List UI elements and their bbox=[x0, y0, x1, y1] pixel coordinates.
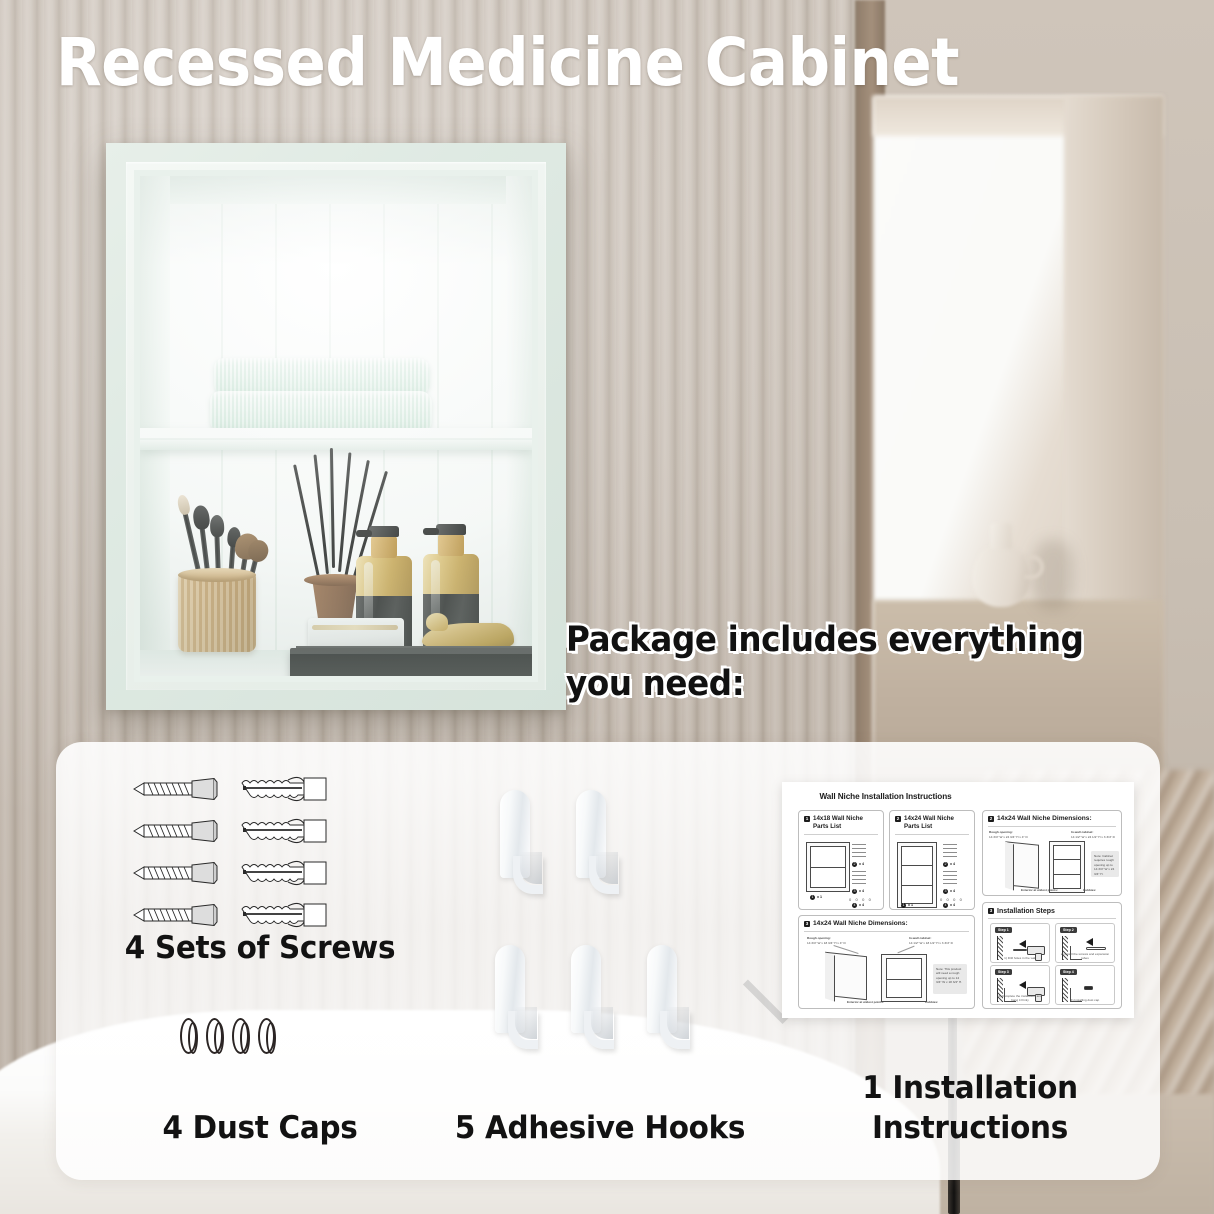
qty-label: x 4 bbox=[859, 889, 864, 893]
ceramic-vase bbox=[972, 545, 1030, 607]
package-subheading-line1: Package includes everything bbox=[566, 618, 1124, 662]
qty-label: x 4 bbox=[859, 903, 864, 907]
niche-shelf-line bbox=[810, 867, 846, 868]
wall-anchor-icon bbox=[238, 776, 330, 802]
step-tag: Step 1 bbox=[995, 927, 1012, 933]
section-heading-text: 14x18 Wall Niche Parts List bbox=[813, 815, 863, 832]
dispenser-pump-head bbox=[436, 524, 466, 535]
sheet-section-dimensions-left: 3 14x24 Wall Niche Dimensions: Rough ope… bbox=[798, 915, 975, 1009]
callout-line bbox=[897, 946, 914, 954]
qty-chip: 3 bbox=[852, 889, 857, 894]
cubbies-label: Cubbies: bbox=[1083, 888, 1121, 892]
step-tag: Step 4 bbox=[1060, 969, 1077, 975]
sheet-section-heading: 2 14x24 Wall Niche Dimensions: bbox=[988, 815, 1116, 824]
brush-head bbox=[209, 515, 224, 537]
section-heading-text: 14x24 Wall Niche Dimensions: bbox=[813, 920, 908, 929]
adhesive-hook-icon bbox=[576, 790, 606, 894]
install-step: Step 4 4) Installing dust cap bbox=[1055, 965, 1115, 1005]
folded-towel-upper bbox=[214, 358, 430, 394]
niche-shelf-line bbox=[901, 865, 933, 866]
folded-towel-lower bbox=[210, 391, 432, 431]
rough-opening-label: Rough opening: bbox=[989, 830, 1033, 834]
part-line bbox=[852, 856, 866, 857]
dust-cap-row: 0 0 0 0 bbox=[940, 897, 963, 903]
dispenser-pump-head bbox=[369, 526, 399, 537]
section-number: 2 bbox=[895, 816, 901, 822]
cavity-soffit bbox=[140, 176, 532, 204]
part-line bbox=[943, 883, 957, 884]
rough-opening-value: 14 3/4" W x 24 3/4" H x 4" D bbox=[989, 835, 1037, 839]
note-box: Note: Cabinet requires rough opening up … bbox=[1091, 851, 1119, 877]
section-heading-text: 14x24 Wall Niche Dimensions: bbox=[997, 815, 1092, 824]
in-wall-cabinet-value: 14 1/2" W x 24 1/2" H x 3 3/4" D bbox=[1071, 835, 1119, 839]
qty-label: x 4 bbox=[859, 862, 864, 866]
screw-icon bbox=[130, 904, 218, 926]
qty-chip: 2 bbox=[943, 862, 948, 867]
arrow-left-icon bbox=[1019, 981, 1026, 989]
step-caption: 3) Complete the installation and hang it… bbox=[995, 994, 1045, 1002]
wall-anchor-icon bbox=[238, 860, 330, 886]
step-tag: Step 3 bbox=[995, 969, 1012, 975]
package-subheading-line2: you need: bbox=[566, 662, 1124, 706]
arrow-left-icon bbox=[1019, 940, 1026, 948]
gold-bird-head bbox=[426, 613, 448, 631]
dust-cap-icon bbox=[180, 1018, 197, 1054]
qty-label: x 4 bbox=[950, 903, 955, 907]
cabinet-shelf-line bbox=[1053, 859, 1081, 860]
part-line bbox=[943, 856, 957, 857]
divider bbox=[988, 826, 1116, 827]
qty-label: x 4 bbox=[950, 862, 955, 866]
part-line bbox=[852, 879, 866, 880]
instructions-caption-line1: 1 Installation bbox=[809, 1068, 1132, 1108]
wall-opening-side bbox=[1005, 842, 1014, 891]
part-line bbox=[852, 875, 866, 876]
qty-chip: 1 bbox=[810, 895, 815, 900]
product-infographic: Recessed Medicine Cabinet bbox=[0, 0, 1214, 1214]
step-caption: 4) Installing dust cap bbox=[1060, 998, 1110, 1002]
niche-diagram-inner bbox=[901, 846, 933, 904]
cabinet-diagram-inner bbox=[886, 958, 922, 998]
sheet-section-parts-14x24: 2 14x24 Wall Niche Parts List 2 x 4 3 x bbox=[889, 810, 975, 910]
sheet-section-heading: 3 Installation Steps bbox=[988, 907, 1116, 916]
adhesive-hook-icon bbox=[647, 945, 677, 1049]
qty-label: x 1 bbox=[908, 903, 913, 907]
cabinet-shelf-line bbox=[1053, 874, 1081, 875]
dispenser-collar bbox=[371, 536, 397, 558]
sheet-section-heading: 2 14x24 Wall Niche Parts List bbox=[895, 815, 969, 832]
bamboo-brush-holder bbox=[178, 572, 256, 652]
qty-chip: 2 bbox=[852, 862, 857, 867]
package-subheading: Package includes everything you need: bbox=[566, 618, 1124, 707]
niche-shelf-line bbox=[901, 885, 933, 886]
instructions-caption: 1 Installation Instructions bbox=[809, 1068, 1132, 1149]
qty-chip: 3 bbox=[943, 889, 948, 894]
part-line bbox=[943, 875, 957, 876]
in-wall-cabinet-label: In-wall cabinet: bbox=[909, 936, 959, 940]
part-line bbox=[852, 871, 866, 872]
instruction-sheet-icon: Wall Niche Installation Instructions 1 1… bbox=[782, 782, 1134, 1018]
cavity-right-wall bbox=[506, 176, 532, 676]
sheet-section-heading: 3 14x24 Wall Niche Dimensions: bbox=[804, 920, 969, 929]
part-line bbox=[943, 879, 957, 880]
cavity-left-wall bbox=[140, 176, 170, 676]
soap-accent-band bbox=[312, 625, 398, 630]
sheet-section-installation-steps: 3 Installation Steps Step 1 1) Drill hol… bbox=[982, 902, 1122, 1009]
wall-anchor-icon bbox=[238, 902, 330, 928]
cabinet-cavity bbox=[140, 176, 532, 676]
dust-cap-icon bbox=[232, 1018, 249, 1054]
qty-label: x 1 bbox=[817, 895, 822, 899]
dust-cap-icon bbox=[206, 1018, 223, 1054]
part-line bbox=[852, 844, 866, 845]
divider bbox=[895, 834, 969, 835]
part-line bbox=[852, 852, 866, 853]
dispenser-nozzle bbox=[356, 530, 372, 537]
dispenser-collar bbox=[438, 534, 464, 556]
step-caption: 1) Drill holes in the wall bbox=[995, 956, 1045, 960]
qty-chip: 4 bbox=[852, 903, 857, 908]
screw-icon bbox=[130, 778, 218, 800]
sheet-section-heading: 1 14x18 Wall Niche Parts List bbox=[804, 815, 878, 832]
screw-icon bbox=[130, 820, 218, 842]
install-step: Step 1 1) Drill holes in the wall bbox=[990, 923, 1050, 963]
screw-icon bbox=[130, 862, 218, 884]
part-line bbox=[943, 844, 957, 845]
part-line bbox=[943, 848, 957, 849]
cabinet-diagram-inner bbox=[1053, 845, 1081, 889]
adhesive-hook-icon bbox=[500, 790, 530, 894]
step-caption: 2) Install the screws and expansion tube… bbox=[1060, 952, 1110, 960]
section-number: 1 bbox=[804, 816, 810, 822]
note-text: Note: This product will need a rough ope… bbox=[936, 967, 964, 985]
dispenser-nozzle bbox=[423, 528, 439, 535]
adhesive-hooks-caption: 5 Adhesive Hooks bbox=[429, 1110, 771, 1146]
divider bbox=[804, 834, 878, 835]
recessed-cabinet bbox=[106, 143, 566, 710]
dust-cap-icon bbox=[258, 1018, 275, 1054]
part-line bbox=[943, 852, 957, 853]
sheet-section-dimensions-right: 2 14x24 Wall Niche Dimensions: Rough ope… bbox=[982, 810, 1122, 896]
bamboo-holder-rim bbox=[178, 568, 256, 582]
black-stone-tray bbox=[290, 648, 532, 676]
wall-anchor-icon bbox=[238, 818, 330, 844]
exterior-label: Exterior at widest points: bbox=[1021, 888, 1073, 892]
part-line bbox=[943, 871, 957, 872]
instructions-caption-line2: Instructions bbox=[809, 1108, 1132, 1148]
dust-cap-row: 0 0 0 0 bbox=[849, 897, 872, 903]
qty-label: x 4 bbox=[950, 889, 955, 893]
arrow-left-icon bbox=[1086, 938, 1093, 946]
qty-chip: 4 bbox=[943, 903, 948, 908]
section-number: 2 bbox=[988, 816, 994, 822]
wall-opening-side bbox=[825, 952, 835, 1001]
in-wall-cabinet-value: 14 1/2" W x 18 1/2" H x 3 3/4" D bbox=[909, 941, 965, 945]
rough-opening-label: Rough opening: bbox=[807, 936, 857, 940]
install-step: Step 3 3) Complete the installation and … bbox=[990, 965, 1050, 1005]
note-text: Note: Cabinet requires rough opening up … bbox=[1094, 854, 1116, 876]
sheet-title: Wall Niche Installation Instructions bbox=[798, 792, 973, 801]
section-heading-text: 14x24 Wall Niche Parts List bbox=[904, 815, 954, 832]
section-number: 3 bbox=[804, 921, 810, 927]
part-line bbox=[852, 883, 866, 884]
screw-anchor-icon bbox=[1086, 947, 1106, 950]
adhesive-hook-icon bbox=[571, 945, 601, 1049]
adhesive-hook-icon bbox=[495, 945, 525, 1049]
step-tag: Step 2 bbox=[1060, 927, 1077, 933]
in-wall-cabinet-label: In-wall cabinet: bbox=[1071, 830, 1117, 834]
section-number: 3 bbox=[988, 908, 994, 914]
qty-chip: 1 bbox=[901, 903, 906, 908]
part-line bbox=[852, 848, 866, 849]
divider bbox=[988, 918, 1116, 919]
drill-bit bbox=[1013, 949, 1027, 951]
sheet-section-parts-14x18: 1 14x18 Wall Niche Parts List 2 x 4 1 x bbox=[798, 810, 884, 910]
screws-caption: 4 Sets of Screws bbox=[42, 930, 479, 966]
cabinet-shelf-line bbox=[886, 979, 922, 980]
vase-neck bbox=[990, 523, 1012, 549]
cubbies-label: Cubbies: bbox=[925, 1000, 973, 1004]
dust-caps-caption: 4 Dust Caps bbox=[42, 1110, 479, 1146]
section-heading-text: Installation Steps bbox=[997, 907, 1055, 916]
exterior-label: Exterior at widest points: bbox=[847, 1000, 905, 1004]
divider bbox=[804, 931, 969, 932]
install-step: Step 2 2) Install the screws and expansi… bbox=[1055, 923, 1115, 963]
cabinet-shelf-edge bbox=[140, 440, 532, 450]
page-title: Recessed Medicine Cabinet bbox=[56, 30, 959, 96]
dust-cap-diagram bbox=[1084, 986, 1093, 990]
note-box: Note: This product will need a rough ope… bbox=[933, 964, 967, 994]
